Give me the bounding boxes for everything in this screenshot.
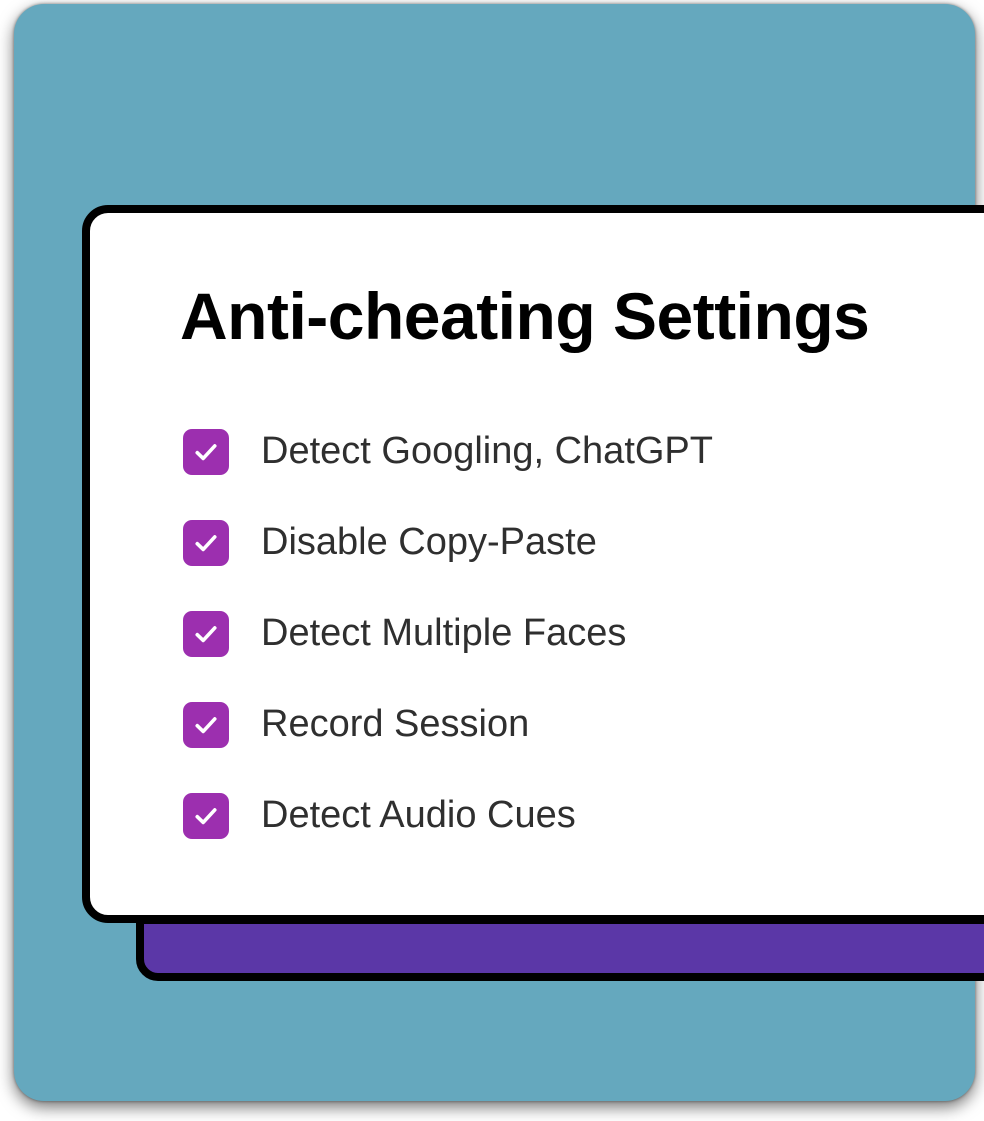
settings-list: Detect Googling, ChatGPT Disable Copy-Pa… [183,429,984,839]
setting-row-record-session[interactable]: Record Session [183,702,984,748]
check-icon [192,438,220,466]
checkbox-detect-audio-cues[interactable] [183,793,229,839]
check-icon [192,802,220,830]
action-bar[interactable] [136,916,984,981]
anti-cheating-settings-card: Anti-cheating Settings Detect Googling, … [82,205,984,923]
setting-label: Detect Multiple Faces [261,613,626,655]
setting-row-detect-multiple-faces[interactable]: Detect Multiple Faces [183,611,984,657]
check-icon [192,620,220,648]
app-background-panel: Anti-cheating Settings Detect Googling, … [14,4,975,1101]
page-title: Anti-cheating Settings [180,283,869,349]
check-icon [192,711,220,739]
checkbox-disable-copy-paste[interactable] [183,520,229,566]
setting-row-disable-copy-paste[interactable]: Disable Copy-Paste [183,520,984,566]
setting-label: Detect Googling, ChatGPT [261,431,713,473]
setting-label: Disable Copy-Paste [261,522,597,564]
setting-row-detect-googling[interactable]: Detect Googling, ChatGPT [183,429,984,475]
setting-label: Record Session [261,704,529,746]
checkbox-detect-multiple-faces[interactable] [183,611,229,657]
checkbox-detect-googling[interactable] [183,429,229,475]
check-icon [192,529,220,557]
checkbox-record-session[interactable] [183,702,229,748]
setting-row-detect-audio-cues[interactable]: Detect Audio Cues [183,793,984,839]
setting-label: Detect Audio Cues [261,795,576,837]
